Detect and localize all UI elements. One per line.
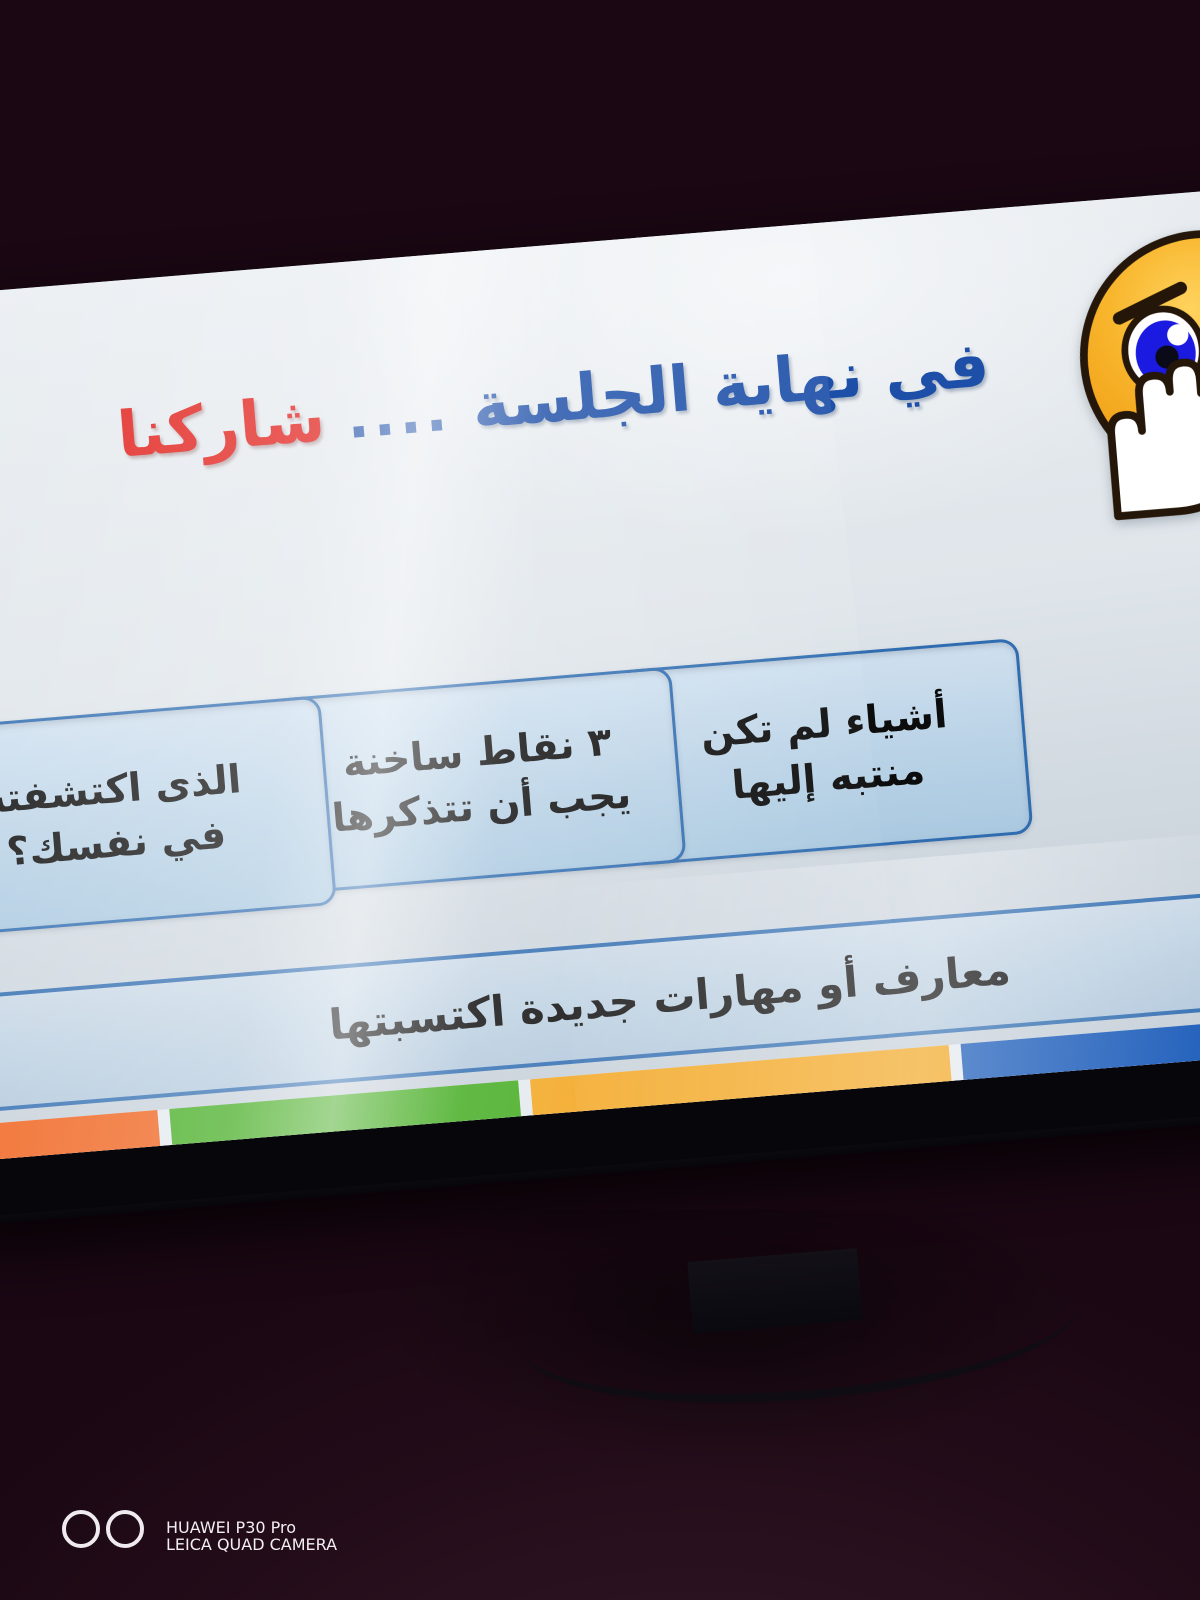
- title-dots: ....: [344, 376, 453, 452]
- photograph: في نهاية الجلسة .... شاركنا الذى اكتشفته…: [0, 0, 1200, 1600]
- camera-watermark: HUAWEI P30 Pro LEICA QUAD CAMERA: [62, 1503, 337, 1554]
- slide-banner-text: معارف أو مهارات جديدة اكتسبتها: [327, 944, 1012, 1049]
- ring-right: [106, 1510, 144, 1548]
- prompt-box-hot-points: ٣ نقاط ساخنةيجب أن تتذكرها: [272, 666, 687, 894]
- prompt-box-hot-points-text: ٣ نقاط ساخنةيجب أن تتذكرها: [326, 715, 633, 847]
- slide-title: في نهاية الجلسة .... شاركنا: [115, 327, 992, 471]
- prompt-box-discovered-text: الذى اكتشفتهفي نفسك؟: [0, 753, 248, 881]
- tv-mount: [687, 1248, 862, 1334]
- title-blue-part: في نهاية الجلسة: [469, 327, 992, 442]
- face-with-hand-over-mouth-icon: [1040, 203, 1200, 526]
- prompt-box-discovered: الذى اكتشفتهفي نفسك؟: [0, 695, 337, 940]
- ring-left: [62, 1510, 100, 1548]
- watermark-text: HUAWEI P30 Pro LEICA QUAD CAMERA: [166, 1503, 337, 1554]
- powerpoint-slide: في نهاية الجلسة .... شاركنا الذى اكتشفته…: [0, 180, 1200, 1163]
- title-red-part: شاركنا: [115, 382, 328, 472]
- tv-screen: في نهاية الجلسة .... شاركنا الذى اكتشفته…: [0, 180, 1200, 1163]
- television: في نهاية الجلسة .... شاركنا الذى اكتشفته…: [0, 180, 1200, 1227]
- leica-rings-icon: [62, 1510, 144, 1548]
- prompt-boxes-row: الذى اكتشفتهفي نفسك؟ ٣ نقاط ساخنةيجب أن …: [0, 606, 1200, 957]
- prompt-box-unnoticed-things-text: أشياء لم تكنمنتبه إليها: [699, 688, 954, 816]
